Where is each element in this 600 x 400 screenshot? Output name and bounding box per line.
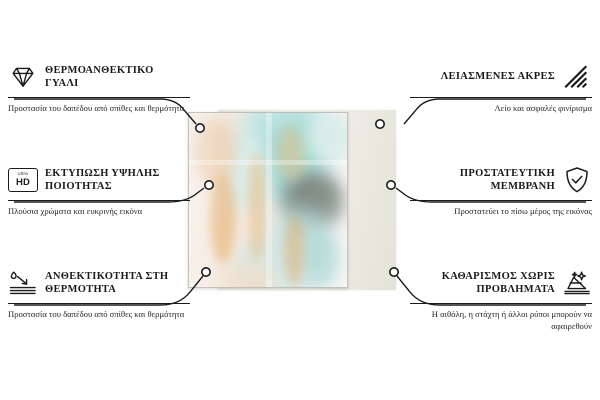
polished-edges-icon [562,62,592,92]
feature-heat-resistance: ΑΝΘΕΚΤΙΚΟΤΗΤΑ ΣΤΗ ΘΕΡΜΟΤΗΤΑ Προστασία το… [8,266,190,320]
feature-header: ΑΝΘΕΚΤΙΚΟΤΗΤΑ ΣΤΗ ΘΕΡΜΟΤΗΤΑ [8,266,190,300]
feature-divider [8,200,190,201]
product-glass-panel [188,112,348,288]
feature-easy-cleaning: ΚΑΘΑΡΙΣΜΟΣ ΧΩΡΙΣ ΠΡΟΒΛΗΜΑΤΑ Η αιθάλη, η … [410,266,592,332]
easy-clean-icon [562,268,592,298]
marble-artwork [188,112,348,288]
feature-divider [410,97,592,98]
feature-description: Προστασία του δαπέδου από σπίθες και θερ… [8,308,190,320]
ultra-hd-badge-icon: ultra HD [8,165,38,195]
feature-high-quality-print: ultra HD ΕΚΤΥΠΩΣΗ ΥΨΗΛΗΣ ΠΟΙΟΤΗΤΑΣ Πλούσ… [8,163,190,217]
feature-header: ΠΡΟΣΤΑΤΕΥΤΙΚΗ ΜΕΜΒΡΑΝΗ [410,163,592,197]
feature-polished-edges: ΛΕΙΑΣΜΕΝΕΣ ΑΚΡΕΣ Λείο και ασφαλές φινίρι… [410,60,592,114]
feature-description: Προστατεύει το πίσω μέρος της εικόνας [410,205,592,217]
feature-description: Λείο και ασφαλές φινίρισμα [410,102,592,114]
feature-title: ΘΕΡΜΟΑΝΘΕΚΤΙΚΟ ΓΥΑΛΙ [45,64,190,91]
feature-divider [8,303,190,304]
product-image [188,112,388,288]
feature-heat-resistant-glass: ΘΕΡΜΟΑΝΘΕΚΤΙΚΟ ΓΥΑΛΙ Προστασία του δαπέδ… [8,60,190,114]
feature-divider [410,200,592,201]
feature-protective-membrane: ΠΡΟΣΤΑΤΕΥΤΙΚΗ ΜΕΜΒΡΑΝΗ Προστατεύει το πί… [410,163,592,217]
heat-resistance-icon [8,268,38,298]
feature-divider [410,303,592,304]
feature-header: ultra HD ΕΚΤΥΠΩΣΗ ΥΨΗΛΗΣ ΠΟΙΟΤΗΤΑΣ [8,163,190,197]
feature-description: Προστασία του δαπέδου από σπίθες και θερ… [8,102,190,114]
feature-header: ΘΕΡΜΟΑΝΘΕΚΤΙΚΟ ΓΥΑΛΙ [8,60,190,94]
feature-title: ΑΝΘΕΚΤΙΚΟΤΗΤΑ ΣΤΗ ΘΕΡΜΟΤΗΤΑ [45,270,190,297]
feature-title: ΕΚΤΥΠΩΣΗ ΥΨΗΛΗΣ ΠΟΙΟΤΗΤΑΣ [45,167,190,194]
ultra-hd-large-text: HD [16,178,30,188]
feature-title: ΚΑΘΑΡΙΣΜΟΣ ΧΩΡΙΣ ΠΡΟΒΛΗΜΑΤΑ [410,270,555,297]
feature-divider [8,97,190,98]
feature-description: Η αιθάλη, η στάχτη ή άλλοι ρύποι μπορούν… [410,308,592,332]
shield-check-icon [562,165,592,195]
feature-header: ΚΑΘΑΡΙΣΜΟΣ ΧΩΡΙΣ ΠΡΟΒΛΗΜΑΤΑ [410,266,592,300]
feature-title: ΛΕΙΑΣΜΕΝΕΣ ΑΚΡΕΣ [410,70,555,83]
feature-header: ΛΕΙΑΣΜΕΝΕΣ ΑΚΡΕΣ [410,60,592,94]
feature-description: Πλούσια χρώματα και ευκρινής εικόνα [8,205,190,217]
diamond-icon [8,62,38,92]
feature-title: ΠΡΟΣΤΑΤΕΥΤΙΚΗ ΜΕΜΒΡΑΝΗ [410,167,555,194]
